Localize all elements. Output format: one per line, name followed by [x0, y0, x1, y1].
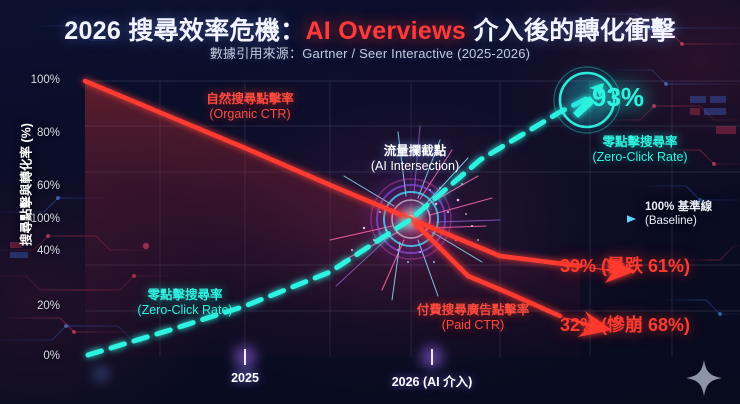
page-title: 2026 搜尋效率危機：AI Overviews 介入後的轉化衝擊 — [0, 11, 740, 47]
subtitle-source: 數據引用來源：Gartner / Seer Interactive (2025-… — [0, 43, 740, 62]
value-93-percent: 93% — [592, 82, 644, 113]
annotation-intersection: 流量攔截點 (AI Intersection) — [335, 144, 495, 175]
baseline-label-en: (Baseline) — [645, 214, 712, 228]
annotation-zero-click-left-en: (Zero-Click Rate) — [90, 303, 280, 318]
series-paid-ctr — [411, 219, 560, 316]
title-part-2: 介入後的轉化衝擊 — [466, 17, 676, 45]
y-tick-100-top: 100% — [14, 74, 60, 86]
value-39-percent: 39% (暴跌 61%) — [560, 252, 690, 278]
annotation-organic-ctr-en: (Organic CTR) — [160, 107, 340, 122]
annotation-zero-click-left: 零點擊搜尋率 (Zero-Click Rate) — [90, 288, 280, 319]
annotation-zero-click-left-cn: 零點擊搜尋率 — [90, 288, 280, 303]
annotation-organic-ctr-cn: 自然搜尋點擊率 — [160, 92, 340, 107]
annotation-zero-click-right-en: (Zero-Click Rate) — [545, 150, 735, 165]
x-tick-2025: 2025 — [205, 371, 285, 385]
y-tick-20: 20% — [14, 300, 60, 312]
annotation-intersection-en: (AI Intersection) — [335, 159, 495, 174]
y-axis-label: 搜尋點擊與轉化率 (%) — [16, 100, 35, 270]
y-tick-0: 0% — [14, 350, 60, 362]
baseline-label-cn: 100% 基準線 — [645, 201, 712, 213]
annotation-paid-ctr-en: (Paid CTR) — [378, 318, 568, 333]
annotation-organic-ctr: 自然搜尋點擊率 (Organic CTR) — [160, 92, 340, 123]
annotation-intersection-cn: 流量攔截點 — [335, 144, 495, 159]
infographic-canvas: 2026 搜尋效率危機：AI Overviews 介入後的轉化衝擊 數據引用來源… — [0, 0, 740, 404]
annotation-paid-ctr-cn: 付費搜尋廣告點擊率 — [378, 303, 568, 318]
annotation-zero-click-right: 零點擊搜尋率 (Zero-Click Rate) — [545, 135, 735, 166]
annotation-zero-click-right-cn: 零點擊搜尋率 — [545, 135, 735, 150]
title-highlight: AI Overviews — [305, 17, 466, 45]
baseline-label: 100% 基準線 (Baseline) — [645, 200, 712, 229]
value-32-percent: 32% (慘崩 68%) — [560, 311, 690, 337]
annotation-paid-ctr: 付費搜尋廣告點擊率 (Paid CTR) — [378, 303, 568, 334]
x-tick-2026: 2026 (AI 介入) — [362, 371, 502, 390]
title-part-1: 2026 搜尋效率危機： — [64, 17, 305, 45]
